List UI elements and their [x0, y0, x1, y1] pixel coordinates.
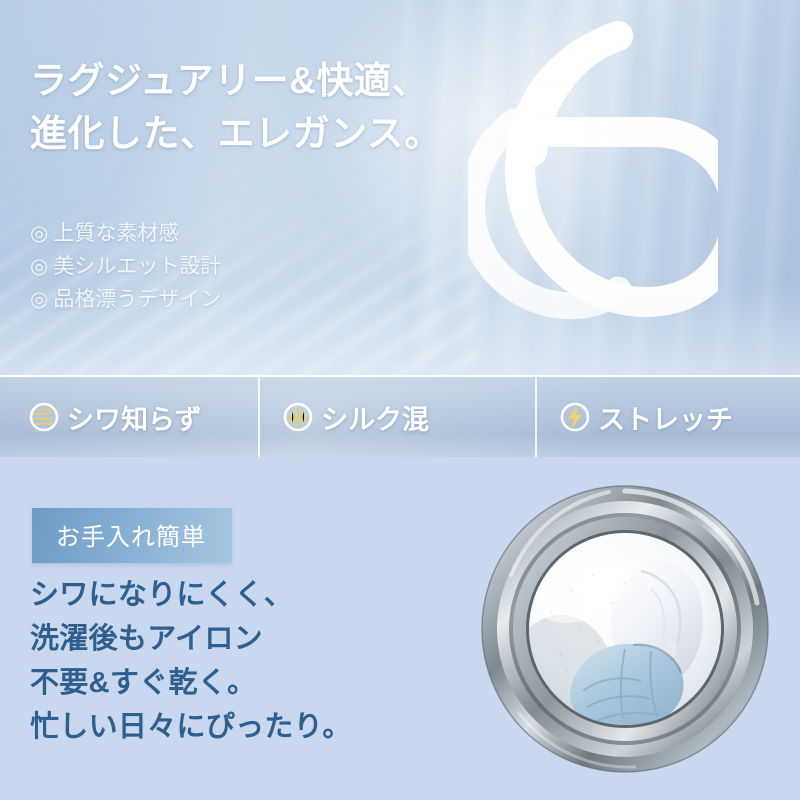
washing-machine-drum-photo: [475, 479, 775, 779]
feature-item-wrinkle-free: シワ知らず: [0, 377, 258, 457]
feature-label: シワ知らず: [67, 398, 201, 437]
copy-line-4: 忙しい日々にぴったり。: [30, 705, 352, 749]
copy-line-3: 不要&すぐ乾く。: [30, 661, 352, 705]
copy-line-2: 洗濯後もアイロン: [30, 617, 352, 661]
list-item: ◎品格漂うデザイン: [30, 284, 221, 317]
bullet-label: 品格漂うデザイン: [53, 288, 221, 311]
status-badge: お手入れ簡単: [32, 508, 232, 563]
feature-bar: シワ知らず シルク混 ストレッチ: [0, 375, 800, 457]
list-item: ◎美シルエット設計: [30, 251, 221, 284]
wind-wrinkle-icon: [28, 401, 60, 433]
feature-item-stretch: ストレッチ: [535, 377, 800, 457]
feature-item-silk-blend: シルク混: [258, 377, 535, 457]
hero-bullet-list: ◎上質な素材感 ◎美シルエット設計 ◎品格漂うデザイン: [30, 218, 221, 316]
hero-section: ラグジュアリー&快適、 進化した、エレガンス。 ◎上質な素材感 ◎美シルエット設…: [0, 0, 800, 375]
headline-line-1: ラグジュアリー&快適、: [30, 55, 500, 108]
lightning-bolt-icon: [559, 401, 591, 433]
feature-label: ストレッチ: [598, 398, 733, 437]
bullet-label: 美シルエット設計: [53, 255, 221, 278]
headline-line-2: 進化した、エレガンス。: [30, 108, 500, 161]
care-section: お手入れ簡単 シワになりにくく、 洗濯後もアイロン 不要&すぐ乾く。 忙しい日々…: [0, 457, 800, 800]
hero-headline: ラグジュアリー&快適、 進化した、エレガンス。: [30, 55, 500, 160]
product-banner: ラグジュアリー&快適、 進化した、エレガンス。 ◎上質な素材感 ◎美シルエット設…: [0, 0, 800, 800]
care-body-copy: シワになりにくく、 洗濯後もアイロン 不要&すぐ乾く。 忙しい日々にぴったり。: [30, 573, 352, 749]
copy-line-1: シワになりにくく、: [30, 573, 352, 617]
feature-label: シルク混: [321, 398, 429, 437]
list-item: ◎上質な素材感: [30, 218, 221, 251]
bullet-marker-icon: ◎: [30, 288, 48, 311]
swirl-six-logo: [468, 18, 718, 348]
silk-sparkle-icon: [282, 401, 314, 433]
bullet-marker-icon: ◎: [30, 255, 48, 278]
bullet-label: 上質な素材感: [53, 222, 179, 245]
bullet-marker-icon: ◎: [30, 222, 48, 245]
